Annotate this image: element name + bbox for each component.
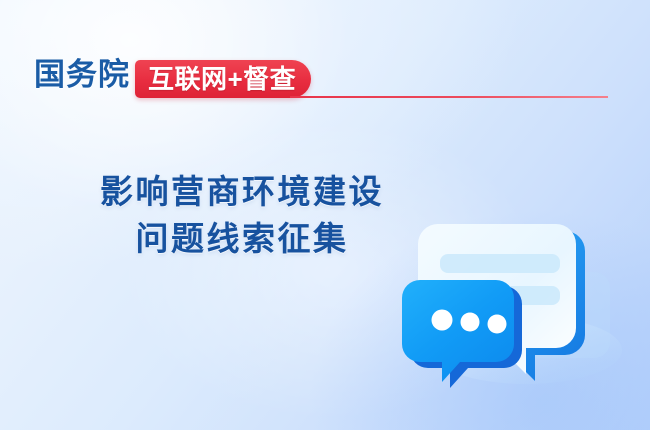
program-badge: 互联网+督查 — [135, 60, 311, 98]
header: 国务院 互联网+督查 — [0, 52, 650, 104]
gov-label: 国务院 — [34, 52, 130, 98]
banner-root: 国务院 互联网+督查 影响营商环境建设 问题线索征集 — [0, 0, 650, 430]
page-title: 影响营商环境建设 问题线索征集 — [28, 168, 456, 262]
header-divider-rule — [290, 96, 608, 98]
chat-bubbles-illustration — [398, 198, 628, 398]
page-title-line-1: 影响营商环境建设 — [28, 168, 456, 215]
program-badge-label: 互联网+督查 — [148, 66, 296, 92]
page-title-line-2: 问题线索征集 — [28, 215, 456, 262]
